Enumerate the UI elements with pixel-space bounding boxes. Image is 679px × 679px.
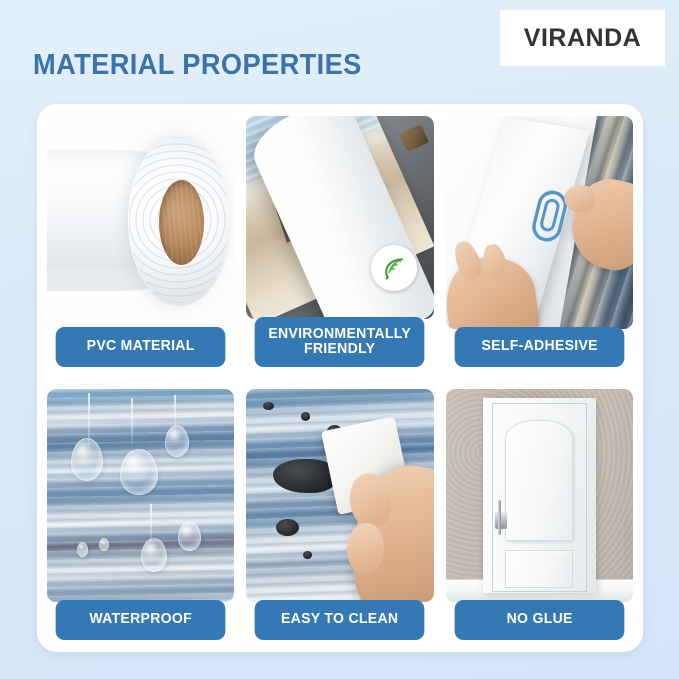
eco-leaf-badge: [371, 245, 417, 291]
door-panel-lower: [505, 550, 573, 588]
feature-card-self-adhesive[interactable]: SELF-ADHESIVE: [446, 116, 633, 367]
door-leaf: [492, 403, 586, 591]
dirt-smudge: [263, 402, 274, 411]
water-droplet: [71, 438, 103, 481]
pvc-roll-illustration: [47, 116, 234, 329]
water-droplet: [141, 538, 167, 572]
wallpaper-curl-tip: [399, 124, 429, 152]
water-droplet: [120, 449, 157, 496]
feature-label-self-adhesive: SELF-ADHESIVE: [454, 327, 624, 367]
easy-to-clean-image: [246, 389, 433, 602]
cleaning-hand: [345, 459, 434, 602]
eco-wallpaper-image: [246, 116, 433, 319]
feature-label-easy-to-clean: EASY TO CLEAN: [255, 600, 425, 640]
no-glue-door-image: [446, 389, 633, 602]
features-grid: PVC MATERIAL ENVIRONMENTALLY FRIENDLY: [47, 116, 633, 640]
leaf-icon: [380, 254, 408, 282]
features-panel: PVC MATERIAL ENVIRONMENTALLY FRIENDLY: [37, 104, 643, 652]
dirt-smudge: [301, 412, 310, 421]
water-droplet: [165, 425, 189, 457]
brand-name: VIRANDA: [524, 24, 641, 53]
feature-label-environmentally-friendly: ENVIRONMENTALLY FRIENDLY: [255, 317, 425, 367]
feature-label-waterproof: WATERPROOF: [56, 600, 226, 640]
water-droplet: [77, 542, 88, 557]
door-frame: [483, 398, 595, 594]
page-title: MATERIAL PROPERTIES: [33, 49, 362, 82]
feature-label-no-glue: NO GLUE: [454, 600, 624, 640]
water-trail: [150, 504, 152, 542]
feature-card-no-glue[interactable]: NO GLUE: [446, 389, 633, 640]
dirt-smudge: [303, 551, 312, 560]
water-droplet: [178, 521, 200, 551]
brand-logo-box: VIRANDA: [500, 10, 665, 66]
door-panel-upper: [505, 420, 573, 540]
dirt-smudge: [276, 519, 298, 536]
feature-card-pvc-material[interactable]: PVC MATERIAL: [47, 116, 234, 367]
waterproof-image: [47, 389, 234, 602]
feature-card-waterproof[interactable]: WATERPROOF: [47, 389, 234, 640]
water-trail: [131, 398, 133, 445]
feature-card-environmentally-friendly[interactable]: ENVIRONMENTALLY FRIENDLY: [246, 116, 433, 367]
pvc-roll-image: [47, 116, 234, 329]
feature-label-pvc-material: PVC MATERIAL: [56, 327, 226, 367]
door-handle-icon: [495, 512, 507, 529]
self-adhesive-image: [446, 116, 633, 329]
feature-card-easy-to-clean[interactable]: EASY TO CLEAN: [246, 389, 433, 640]
dirt-smudge: [273, 459, 337, 493]
water-droplet: [99, 538, 108, 551]
